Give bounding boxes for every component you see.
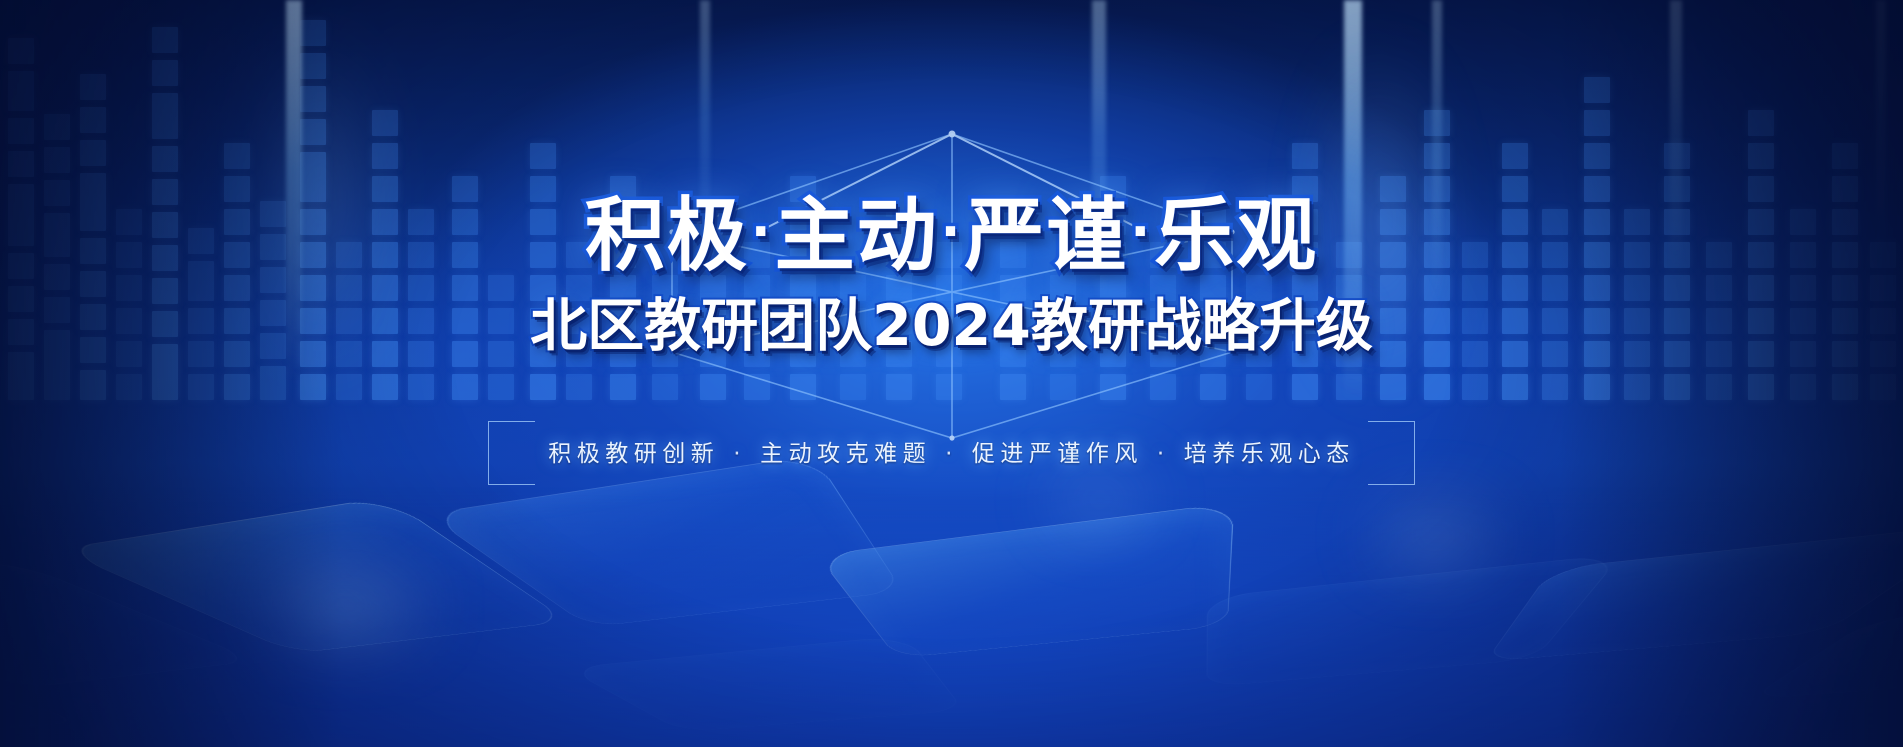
- mosaic-cell: [566, 374, 592, 400]
- platform-tile: [565, 635, 964, 732]
- mosaic-cell: [80, 337, 106, 363]
- mosaic-cell: [80, 238, 106, 264]
- mosaic-column: [1050, 275, 1076, 400]
- glow-spot: [1040, 470, 1160, 530]
- mosaic-cell: [80, 370, 106, 400]
- mosaic-cell: [336, 308, 362, 334]
- mosaic-cell: [1380, 275, 1406, 301]
- mosaic-cell: [1832, 275, 1858, 301]
- mosaic-column: [790, 176, 816, 400]
- mosaic-cell: [1790, 308, 1816, 334]
- mosaic-cell: [1870, 374, 1896, 400]
- mosaic-cell: [116, 341, 142, 367]
- mosaic-cell: [1292, 242, 1318, 268]
- mosaic-cell: [1292, 275, 1318, 301]
- mosaic-cell: [566, 341, 592, 367]
- title-separator: ·: [1128, 202, 1154, 262]
- mosaic-cell: [1424, 275, 1450, 301]
- mosaic-cell: [1832, 209, 1858, 235]
- mosaic-cell: [1832, 374, 1858, 400]
- mosaic-cell: [1150, 275, 1176, 301]
- mosaic-cell: [488, 275, 514, 301]
- mosaic-cell: [1292, 374, 1318, 400]
- mosaic-cell: [700, 275, 726, 301]
- mosaic-column: [1424, 110, 1450, 400]
- mosaic-cell: [1706, 308, 1732, 334]
- mosaic-cell: [80, 173, 106, 231]
- mosaic-cell: [1050, 374, 1076, 400]
- light-beam: [1670, 0, 1682, 280]
- mosaic-cell: [1664, 341, 1690, 367]
- light-beam: [700, 0, 710, 250]
- mosaic-cell: [224, 374, 250, 400]
- mosaic-cell: [744, 308, 770, 334]
- mosaic-cell: [1292, 341, 1318, 367]
- mosaic-cell: [1424, 110, 1450, 136]
- frame-bracket-right: [1368, 421, 1415, 485]
- mosaic-column: [1380, 176, 1406, 400]
- mosaic-cell: [1000, 341, 1026, 367]
- mosaic-column: [1100, 176, 1126, 400]
- mosaic-column: [1870, 242, 1896, 400]
- mosaic-cell: [336, 242, 362, 268]
- mosaic-cell: [1832, 308, 1858, 334]
- mosaic-cell: [224, 341, 250, 367]
- mosaic-cell: [1870, 275, 1896, 301]
- mosaic-cell: [1542, 209, 1568, 235]
- floor-fade: [0, 487, 1903, 747]
- mosaic-cell: [1502, 341, 1528, 367]
- mosaic-column: [408, 209, 434, 400]
- mosaic-cell: [1624, 209, 1650, 235]
- mosaic-cell: [1664, 308, 1690, 334]
- mosaic-column: [1336, 242, 1362, 400]
- mosaic-cell: [1706, 275, 1732, 301]
- mosaic-cell: [260, 333, 286, 359]
- mosaic-cell: [530, 275, 556, 301]
- mosaic-cell: [1748, 242, 1774, 268]
- title-separator: ·: [939, 202, 965, 262]
- mosaic-cell: [1748, 374, 1774, 400]
- mosaic-cell: [260, 300, 286, 326]
- mosaic-cell: [44, 330, 70, 400]
- mosaic-cell: [840, 308, 866, 334]
- mosaic-cell: [152, 60, 178, 86]
- mosaic-cell: [1462, 374, 1488, 400]
- mosaic-cell: [1790, 242, 1816, 268]
- mosaic-cell: [566, 275, 592, 301]
- mosaic-cell: [1292, 176, 1318, 202]
- mosaic-cell: [44, 297, 70, 323]
- tagline-item: 培养乐观心态: [1184, 441, 1355, 467]
- mosaic-cell: [1584, 176, 1610, 202]
- mosaic-cell: [8, 38, 34, 64]
- mosaic-cell: [1584, 275, 1610, 301]
- mosaic-cell: [530, 242, 556, 268]
- mosaic-cell: [1462, 242, 1488, 268]
- mosaic-cell: [1584, 242, 1610, 268]
- light-beam: [1432, 0, 1442, 300]
- mosaic-cell: [1000, 275, 1026, 301]
- mosaic-cell: [1502, 176, 1528, 202]
- mosaic-cell: [372, 308, 398, 334]
- mosaic-cell: [1624, 242, 1650, 268]
- mosaic-column: [188, 228, 214, 400]
- mosaic-cell: [1000, 242, 1026, 268]
- mosaic-cell: [452, 275, 478, 301]
- promo-banner: 积极·主动·严谨·乐观 北区教研团队2024教研战略升级 积极教研创新·主动攻克…: [0, 0, 1903, 747]
- mosaic-cell: [300, 209, 326, 235]
- mosaic-cell: [1748, 143, 1774, 169]
- mosaic-cell: [452, 374, 478, 400]
- mosaic-cell: [1706, 341, 1732, 367]
- mosaic-cell: [1200, 242, 1226, 268]
- mosaic-cell: [1542, 341, 1568, 367]
- mosaic-cell: [1624, 374, 1650, 400]
- mosaic-cell: [1292, 143, 1318, 169]
- mosaic-cell: [1664, 176, 1690, 202]
- glow-spot: [270, 30, 370, 370]
- mosaic-cell: [116, 209, 142, 235]
- mosaic-cell: [936, 374, 962, 400]
- mosaic-cell: [372, 341, 398, 367]
- mosaic-column: [886, 209, 912, 400]
- mosaic-cell: [152, 179, 178, 205]
- mosaic-cell: [1380, 242, 1406, 268]
- platform-tile: [1206, 553, 1623, 687]
- mosaic-cell: [1424, 341, 1450, 367]
- mosaic-cell: [300, 20, 326, 46]
- mosaic-cell: [1100, 341, 1126, 367]
- mosaic-cell: [408, 374, 434, 400]
- light-beam: [1344, 0, 1362, 400]
- mosaic-cell: [224, 308, 250, 334]
- mosaic-cell: [1150, 308, 1176, 334]
- mosaic-cell: [80, 271, 106, 297]
- mosaic-cell: [1246, 341, 1272, 367]
- mosaic-cell: [840, 374, 866, 400]
- frame-bracket-left: [488, 421, 535, 485]
- mosaic-column: [1000, 209, 1026, 400]
- mosaic-cell: [1246, 308, 1272, 334]
- mosaic-cell: [372, 242, 398, 268]
- mosaic-cell: [1424, 374, 1450, 400]
- mosaic-cell: [408, 242, 434, 268]
- mosaic-cell: [8, 71, 34, 111]
- mosaic-cell: [530, 143, 556, 169]
- mosaic-cell: [1748, 341, 1774, 367]
- mosaic-cell: [372, 110, 398, 136]
- mosaic-cell: [1000, 308, 1026, 334]
- mosaic-cell: [700, 209, 726, 235]
- mosaic-cell: [1100, 374, 1126, 400]
- mosaic-cell: [1200, 374, 1226, 400]
- mosaic-cell: [936, 341, 962, 367]
- mosaic-cell: [1832, 143, 1858, 169]
- mosaic-cell: [1100, 176, 1126, 202]
- mosaic-cell: [80, 304, 106, 330]
- mosaic-cell: [1100, 275, 1126, 301]
- mosaic-column: [44, 114, 70, 400]
- mosaic-cell: [188, 341, 214, 367]
- mosaic-cell: [152, 146, 178, 172]
- title-segment: 严谨: [964, 189, 1128, 282]
- mosaic-column: [8, 38, 34, 400]
- mosaic-cell: [152, 344, 178, 400]
- mosaic-cell: [1380, 341, 1406, 367]
- mosaic-column: [530, 143, 556, 400]
- mosaic-cell: [1292, 308, 1318, 334]
- mosaic-cell: [1502, 209, 1528, 235]
- mosaic-cell: [1502, 275, 1528, 301]
- mosaic-cell: [1584, 308, 1610, 334]
- mosaic-cell: [1624, 275, 1650, 301]
- mosaic-cell: [300, 275, 326, 301]
- mosaic-cell: [1748, 176, 1774, 202]
- mosaic-cell: [1870, 242, 1896, 268]
- mosaic-cell: [652, 275, 678, 301]
- mosaic-column: [1502, 143, 1528, 400]
- mosaic-column: [336, 242, 362, 400]
- mosaic-cell: [1100, 209, 1126, 235]
- mosaic-cell: [700, 374, 726, 400]
- mosaic-cell: [1150, 242, 1176, 268]
- mosaic-cell: [300, 374, 326, 400]
- glow-spot: [1320, 40, 1440, 400]
- mosaic-column: [1462, 242, 1488, 400]
- mosaic-cell: [566, 242, 592, 268]
- platform-tile: [816, 502, 1234, 658]
- title-separator: ·: [749, 202, 775, 262]
- mosaic-cell: [452, 209, 478, 235]
- mosaic-cell: [152, 245, 178, 271]
- mosaic-column: [1542, 209, 1568, 400]
- mosaic-cell: [1200, 308, 1226, 334]
- mosaic-cell: [300, 53, 326, 79]
- mosaic-cell: [1790, 275, 1816, 301]
- mosaic-cell: [1624, 341, 1650, 367]
- platform-tile: [0, 654, 87, 740]
- mosaic-column: [1584, 77, 1610, 400]
- mosaic-cell: [44, 114, 70, 140]
- mosaic-pixel-blocks: [0, 0, 1903, 400]
- mosaic-cell: [1502, 242, 1528, 268]
- mosaic-cell: [652, 341, 678, 367]
- mosaic-column: [936, 242, 962, 400]
- glow-spot: [250, 560, 440, 650]
- mosaic-cell: [610, 374, 636, 400]
- mosaic-cell: [188, 228, 214, 254]
- mosaic-column: [1790, 209, 1816, 400]
- mosaic-column: [1150, 242, 1176, 400]
- mosaic-cell: [1150, 341, 1176, 367]
- mosaic-cell: [840, 341, 866, 367]
- mosaic-cell: [700, 242, 726, 268]
- mosaic-cell: [610, 308, 636, 334]
- mosaic-cell: [886, 308, 912, 334]
- banner-subtitle: 北区教研团队2024教研战略升级: [530, 298, 1373, 355]
- mosaic-cell: [1624, 308, 1650, 334]
- mosaic-cell: [116, 308, 142, 334]
- mosaic-cell: [1336, 308, 1362, 334]
- platform-tile: [0, 559, 256, 689]
- mosaic-cell: [744, 374, 770, 400]
- mosaic-cell: [530, 176, 556, 202]
- mosaic-cell: [1664, 143, 1690, 169]
- mosaic-column: [152, 27, 178, 400]
- mosaic-cell: [1542, 308, 1568, 334]
- glow-spot: [1360, 500, 1510, 570]
- mosaic-cell: [8, 118, 34, 144]
- mosaic-cell: [224, 143, 250, 169]
- mosaic-cell: [8, 184, 34, 246]
- mosaic-cell: [1790, 341, 1816, 367]
- mosaic-cell: [80, 107, 106, 133]
- mosaic-cell: [790, 374, 816, 400]
- tagline-item: 促进严谨作风: [972, 441, 1143, 467]
- mosaic-cell: [300, 152, 326, 202]
- mosaic-cell: [1832, 341, 1858, 367]
- light-beam: [1092, 0, 1106, 300]
- mosaic-cell: [610, 341, 636, 367]
- mosaic-cell: [1200, 341, 1226, 367]
- mosaic-cell: [530, 209, 556, 235]
- mosaic-cell: [8, 151, 34, 177]
- mosaic-cell: [116, 242, 142, 268]
- mosaic-cell: [372, 275, 398, 301]
- mosaic-cell: [1424, 176, 1450, 202]
- mosaic-cell: [300, 86, 326, 112]
- mosaic-cell: [652, 308, 678, 334]
- tagline-item: 积极教研创新: [548, 441, 719, 467]
- mosaic-cell: [188, 308, 214, 334]
- mosaic-cell: [936, 242, 962, 268]
- mosaic-cell: [1584, 143, 1610, 169]
- mosaic-cell: [1424, 242, 1450, 268]
- mosaic-cell: [1246, 275, 1272, 301]
- mosaic-cell: [1664, 242, 1690, 268]
- mosaic-cell: [1502, 308, 1528, 334]
- mosaic-cell: [1748, 275, 1774, 301]
- mosaic-cell: [566, 308, 592, 334]
- mosaic-cell: [1542, 242, 1568, 268]
- mosaic-cell: [8, 352, 34, 400]
- mosaic-cell: [452, 341, 478, 367]
- mosaic-cell: [1424, 308, 1450, 334]
- mosaic-cell: [408, 308, 434, 334]
- mosaic-cell: [1790, 209, 1816, 235]
- mosaic-cell: [1380, 374, 1406, 400]
- mosaic-cell: [152, 311, 178, 337]
- mosaic-column: [1706, 242, 1732, 400]
- mosaic-cell: [260, 366, 286, 400]
- mosaic-cell: [1870, 308, 1896, 334]
- wireframe-diamond-decor: [462, 120, 1442, 450]
- mosaic-cell: [1502, 374, 1528, 400]
- mosaic-cell: [8, 319, 34, 345]
- mosaic-cell: [116, 374, 142, 400]
- mosaic-cell: [44, 180, 70, 206]
- mosaic-cell: [372, 143, 398, 169]
- mosaic-cell: [1100, 242, 1126, 268]
- mosaic-cell: [1462, 341, 1488, 367]
- mosaic-cell: [610, 176, 636, 202]
- mosaic-cell: [188, 374, 214, 400]
- mosaic-cell: [886, 374, 912, 400]
- mosaic-cell: [1542, 275, 1568, 301]
- platform-tile: [58, 497, 569, 653]
- mosaic-cell: [44, 147, 70, 173]
- mosaic-cell: [1050, 308, 1076, 334]
- mosaic-cell: [152, 278, 178, 304]
- mosaic-cell: [1832, 242, 1858, 268]
- mosaic-cell: [610, 242, 636, 268]
- mosaic-column: [1200, 209, 1226, 400]
- mosaic-column: [1624, 209, 1650, 400]
- mosaic-cell: [1336, 341, 1362, 367]
- mosaic-cell: [610, 209, 636, 235]
- mosaic-column: [1748, 110, 1774, 400]
- light-beam: [286, 0, 302, 380]
- perspective-platform-tiles: [0, 367, 1903, 747]
- mosaic-cell: [452, 176, 478, 202]
- mosaic-cell: [336, 374, 362, 400]
- mosaic-cell: [372, 209, 398, 235]
- mosaic-cell: [790, 209, 816, 235]
- mosaic-column: [700, 209, 726, 400]
- mosaic-cell: [1832, 176, 1858, 202]
- mosaic-cell: [1050, 341, 1076, 367]
- mosaic-cell: [152, 212, 178, 238]
- mosaic-cell: [886, 275, 912, 301]
- mosaic-cell: [1584, 77, 1610, 103]
- mosaic-cell: [408, 275, 434, 301]
- mosaic-cell: [1462, 308, 1488, 334]
- light-beam: [1876, 0, 1886, 260]
- mosaic-column: [1832, 143, 1858, 400]
- mosaic-cell: [530, 341, 556, 367]
- mosaic-column: [260, 201, 286, 400]
- mosaic-cell: [300, 242, 326, 268]
- mosaic-column: [116, 209, 142, 400]
- mosaic-cell: [886, 242, 912, 268]
- mosaic-cell: [152, 27, 178, 53]
- mosaic-cell: [1000, 209, 1026, 235]
- banner-tagline: 积极教研创新·主动攻克难题·促进严谨作风·培养乐观心态: [548, 434, 1354, 468]
- mosaic-cell: [1424, 143, 1450, 169]
- tagline-separator: ·: [719, 441, 760, 467]
- mosaic-column: [372, 110, 398, 400]
- title-segment: 主动: [775, 189, 939, 282]
- mosaic-column: [1246, 275, 1272, 400]
- mosaic-cell: [1424, 209, 1450, 235]
- mosaic-cell: [886, 209, 912, 235]
- mosaic-cell: [80, 140, 106, 166]
- mosaic-cell: [1502, 143, 1528, 169]
- mosaic-cell: [8, 253, 34, 279]
- platform-tile: [426, 455, 903, 628]
- mosaic-cell: [1380, 176, 1406, 202]
- mosaic-cell: [790, 308, 816, 334]
- mosaic-column: [744, 242, 770, 400]
- mosaic-cell: [1706, 374, 1732, 400]
- mosaic-cell: [530, 308, 556, 334]
- mosaic-cell: [1542, 374, 1568, 400]
- mosaic-cell: [790, 242, 816, 268]
- mosaic-cell: [1292, 209, 1318, 235]
- mosaic-cell: [1336, 275, 1362, 301]
- mosaic-cell: [408, 209, 434, 235]
